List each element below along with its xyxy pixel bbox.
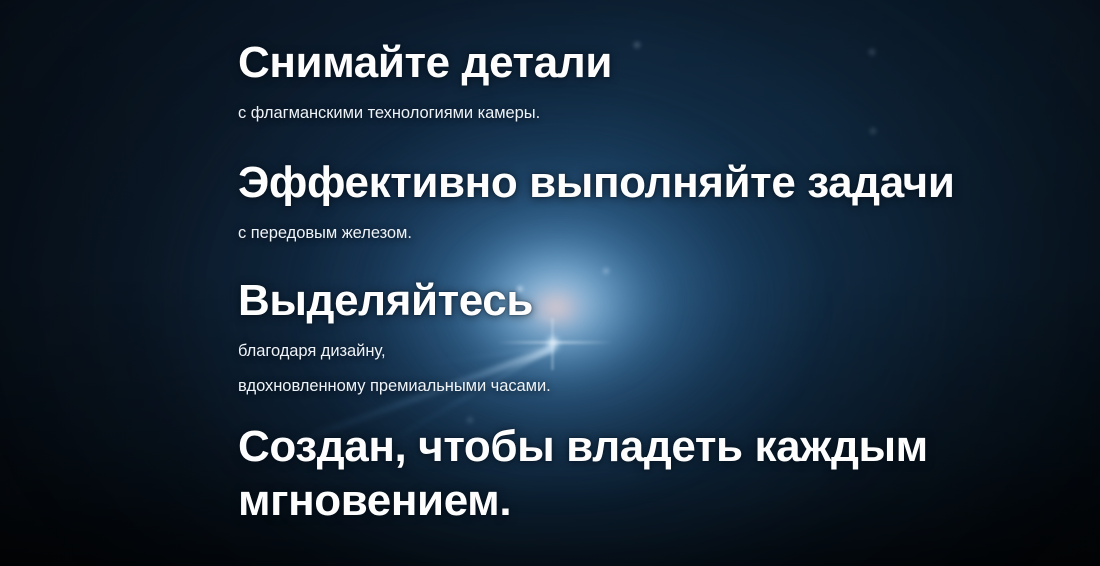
closing-line-2: мгновением. (238, 474, 928, 528)
feature-heading-performance: Эффективно выполняйте задачи (238, 156, 954, 210)
feature-block-design: Выделяйтесь благодаря дизайну, вдохновле… (238, 274, 551, 398)
feature-block-camera: Снимайте детали с флагманскими технологи… (238, 36, 612, 125)
feature-block-performance: Эффективно выполняйте задачи с передовым… (238, 156, 954, 245)
feature-subtitle-camera: с флагманскими технологиями камеры. (238, 102, 612, 125)
closing-line-1: Создан, чтобы владеть каждым (238, 420, 928, 474)
hero-banner: Снимайте детали с флагманскими технологи… (0, 0, 1100, 566)
copy-stack: Снимайте детали с флагманскими технологи… (238, 0, 1058, 566)
feature-heading-camera: Снимайте детали (238, 36, 612, 90)
feature-subtitle-design-line-2: вдохновленному премиальными часами. (238, 375, 551, 398)
closing-statement: Создан, чтобы владеть каждым мгновением. (238, 420, 928, 528)
feature-subtitle-performance: с передовым железом. (238, 222, 954, 245)
feature-heading-design: Выделяйтесь (238, 274, 551, 328)
feature-subtitle-design-line-1: благодаря дизайну, (238, 340, 551, 363)
